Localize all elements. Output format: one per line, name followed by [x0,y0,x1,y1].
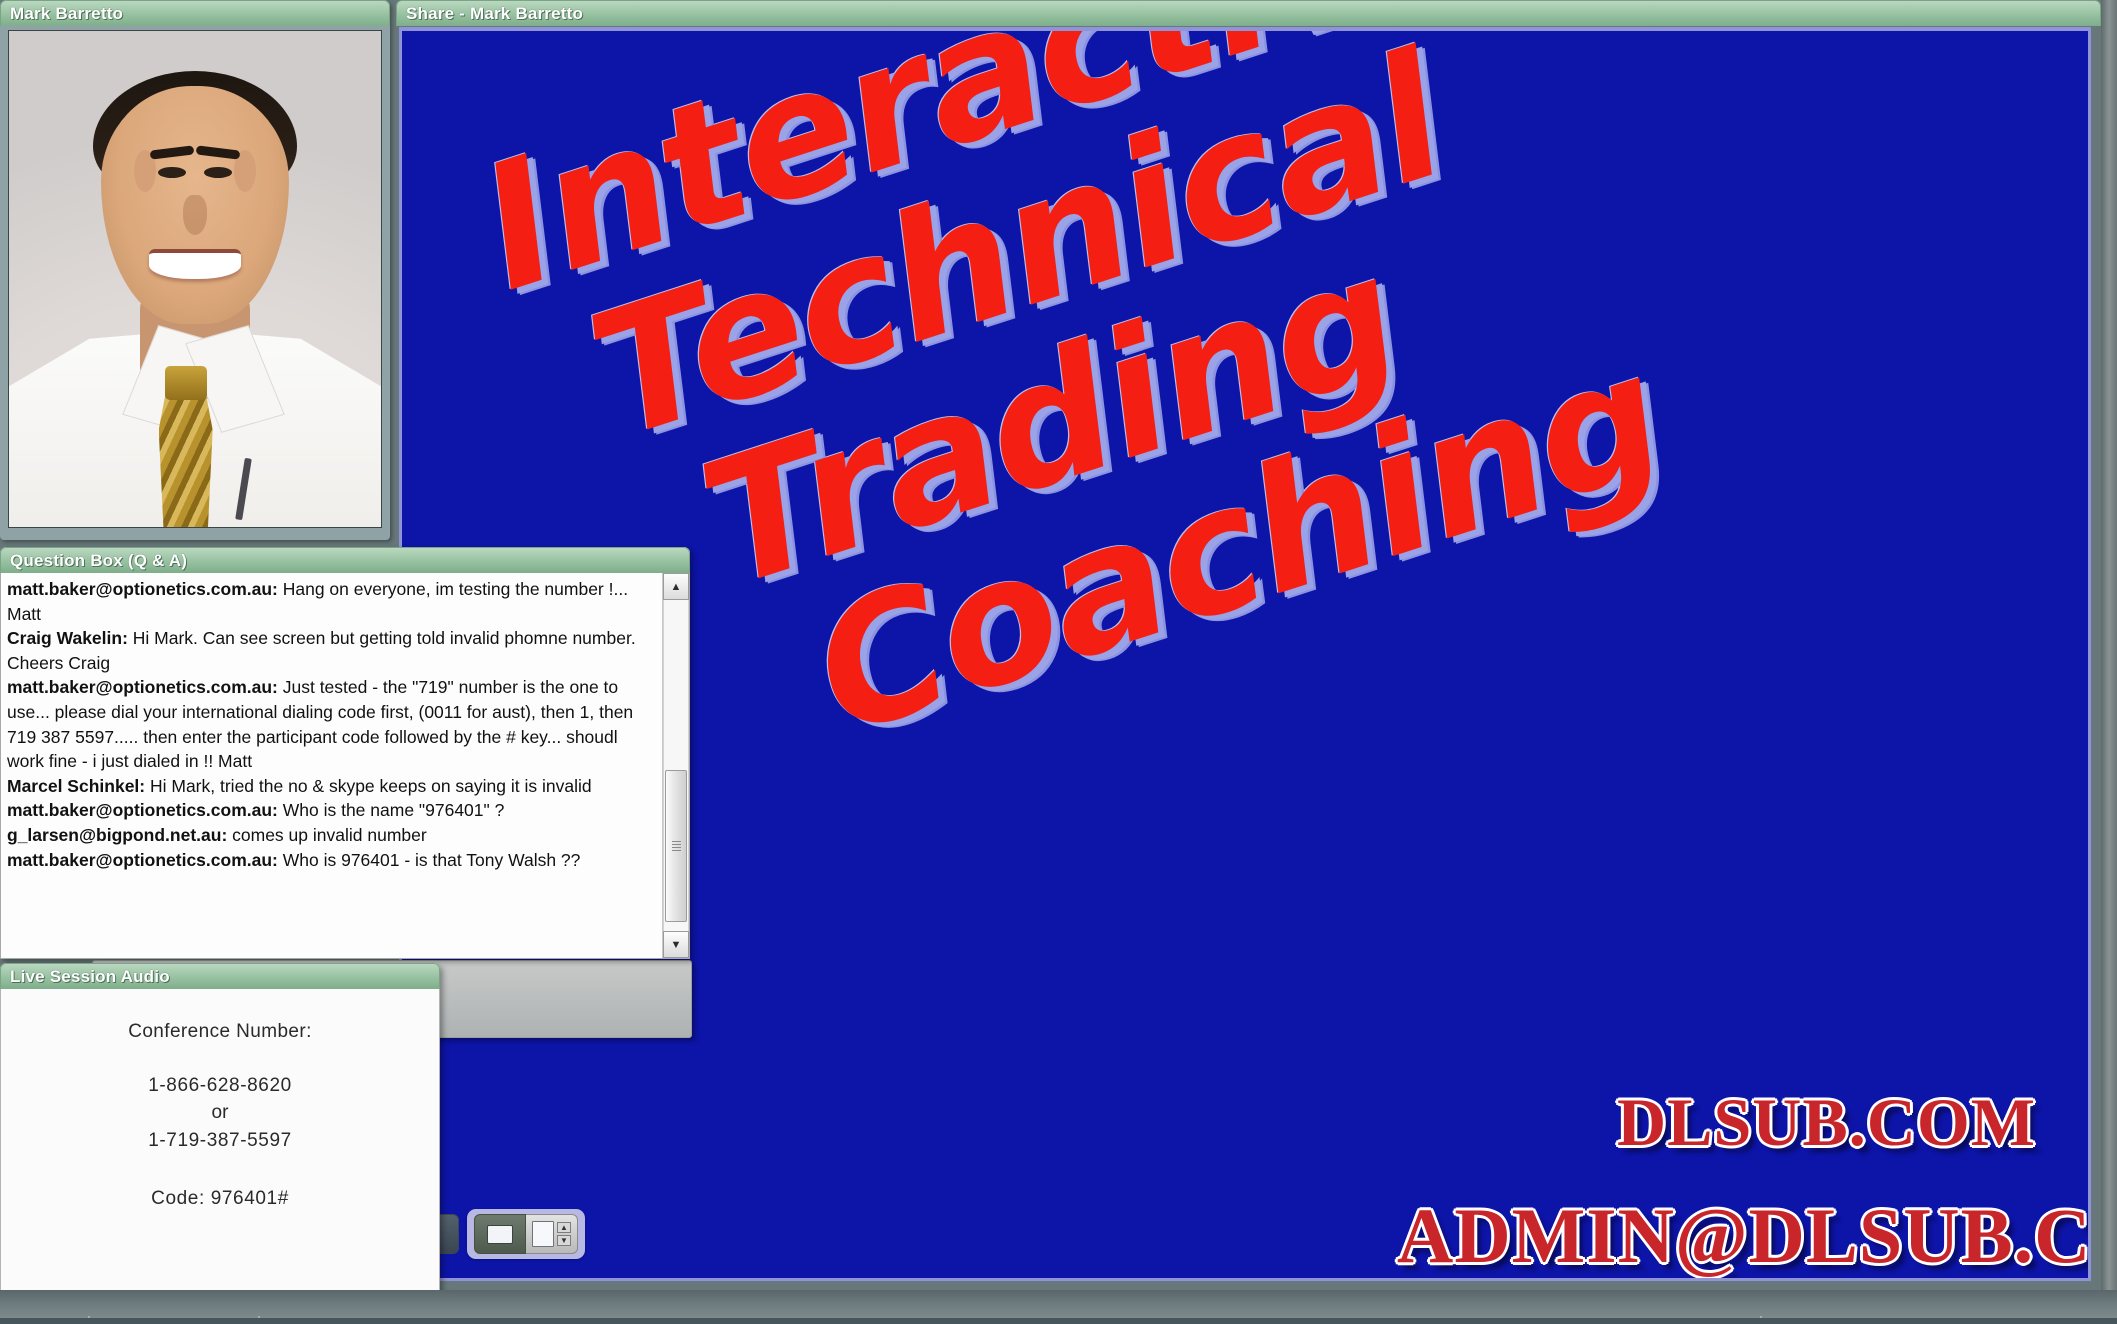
scroll-down-icon[interactable]: ▼ [663,931,689,958]
audio-title-label: Live Session Audio [10,967,170,987]
window-bottom-bevel [0,1290,2117,1324]
question-box-panel: Question Box (Q & A) matt.baker@optionet… [0,547,690,959]
document-icon [532,1221,554,1247]
stepper-icon[interactable]: ▲ ▼ [557,1222,571,1246]
scrollbar-thumb[interactable] [665,770,687,922]
scrollbar-grip-icon [672,841,681,852]
chat-message: g_larsen@bigpond.net.au: comes up invali… [7,823,656,848]
watermark-site: DLSUB.COM [1617,1083,2036,1162]
webinar-screen: Share - Mark Barretto Interactive Techni… [0,0,2117,1324]
bevel-seam [0,1318,2117,1324]
chat-message-text: Who is 976401 - is that Tony Walsh ?? [278,850,581,870]
webcam-title-label: Mark Barretto [10,4,123,24]
chat-message-author: Marcel Schinkel: [7,776,145,796]
scroll-up-icon[interactable]: ▲ [663,573,689,600]
chat-message: matt.baker@optionetics.com.au: Who is 97… [7,848,656,873]
live-session-audio-panel: Live Session Audio Conference Number: 1-… [0,963,440,1308]
presenter-photo [9,31,381,527]
chat-message-author: matt.baker@optionetics.com.au: [7,850,278,870]
chat-message-text: comes up invalid number [227,825,426,845]
chat-scrollbar[interactable]: ▲ ▼ [662,573,689,958]
chat-message-author: matt.baker@optionetics.com.au: [7,579,278,599]
chat-message: matt.baker@optionetics.com.au: Hang on e… [7,577,656,626]
scrollbar-track[interactable] [663,600,689,931]
webcam-video-frame[interactable] [8,30,382,528]
toolbar-button-group: ▲ ▼ [467,1209,585,1259]
share-titlebar[interactable]: Share - Mark Barretto [396,0,2101,26]
chat-message: matt.baker@optionetics.com.au: Just test… [7,675,656,773]
conference-code: Code: 976401# [1,1186,439,1212]
chat-message-author: matt.baker@optionetics.com.au: [7,800,278,820]
chat-message-author: matt.baker@optionetics.com.au: [7,677,278,697]
chat-message: Marcel Schinkel: Hi Mark, tried the no &… [7,774,656,799]
question-box-titlebar[interactable]: Question Box (Q & A) [0,547,690,573]
share-document-button[interactable]: ▲ ▼ [526,1214,578,1254]
share-screen-button[interactable] [474,1214,526,1254]
share-title-label: Share - Mark Barretto [406,4,583,24]
webcam-panel: Mark Barretto [0,0,390,540]
conference-number-label: Conference Number: [1,1019,439,1045]
audio-details: Conference Number: 1-866-628-8620 or 1-7… [0,989,440,1308]
stepper-down-icon[interactable]: ▼ [557,1235,571,1246]
watermark-email: ADMIN@DLSUB.COM [1397,1191,2091,1281]
chat-message-text: Who is the name "976401" ? [278,800,504,820]
chat-message: matt.baker@optionetics.com.au: Who is th… [7,798,656,823]
webcam-titlebar[interactable]: Mark Barretto [0,0,390,26]
chat-message-author: g_larsen@bigpond.net.au: [7,825,227,845]
chat-message-list[interactable]: matt.baker@optionetics.com.au: Hang on e… [1,573,662,958]
chat-message: Craig Wakelin: Hi Mark. Can see screen b… [7,626,656,675]
chat-message-author: Craig Wakelin: [7,628,128,648]
conference-number-separator: or [1,1100,439,1126]
question-box-body: matt.baker@optionetics.com.au: Hang on e… [0,573,690,959]
question-box-title-label: Question Box (Q & A) [10,551,187,571]
share-toolbar: ▲ ▼ [425,1208,585,1260]
monitor-icon [487,1225,513,1244]
window-right-bevel [2101,0,2117,1290]
audio-titlebar[interactable]: Live Session Audio [0,963,440,989]
conference-number-primary: 1-866-628-8620 [1,1073,439,1099]
conference-number-secondary: 1-719-387-5597 [1,1128,439,1154]
chat-message-text: Hi Mark, tried the no & skype keeps on s… [145,776,591,796]
stepper-up-icon[interactable]: ▲ [557,1222,571,1233]
